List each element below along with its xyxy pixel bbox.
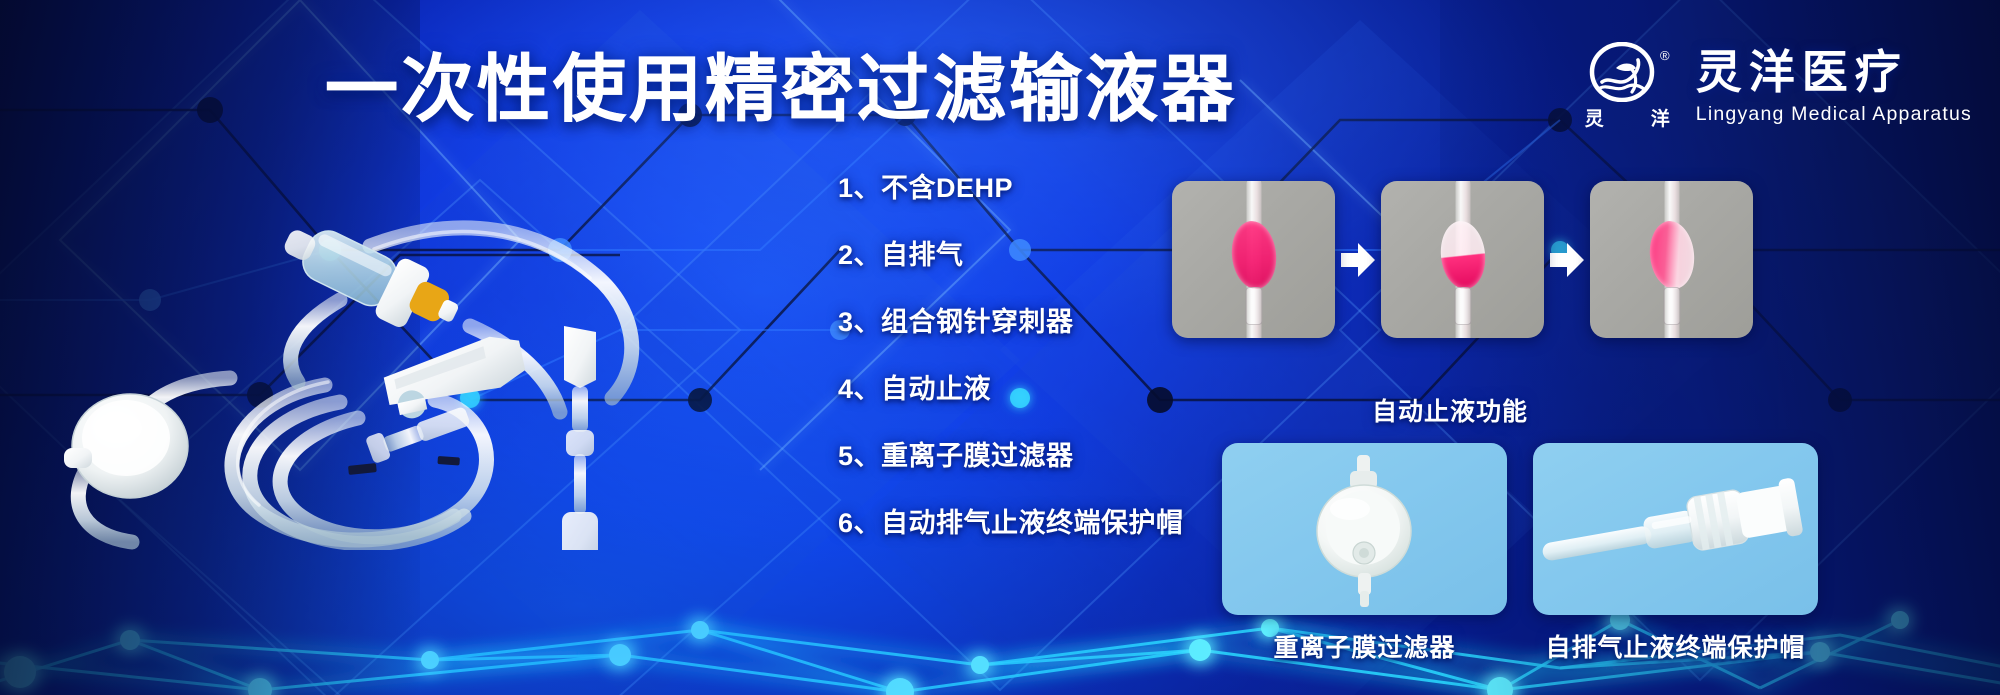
clamp-graphic bbox=[1663, 287, 1680, 325]
sequence-arrow-1 bbox=[1335, 242, 1381, 278]
panel-filter-image bbox=[1222, 443, 1507, 615]
right-arrow-icon bbox=[1550, 242, 1584, 278]
sequence-frame-2 bbox=[1381, 181, 1544, 338]
brand-name-block: 灵洋医疗 Lingyang Medical Apparatus bbox=[1696, 42, 1972, 127]
feature-list: 1、不含DEHP 2、自排气 3、组合钢针穿刺器 4、自动止液 5、重离子膜过滤… bbox=[838, 172, 1168, 539]
panel-cap-image bbox=[1533, 443, 1818, 615]
page-title: 一次性使用精密过滤输液器 bbox=[325, 44, 1237, 136]
hero-product-image bbox=[40, 150, 660, 550]
brand-name-en: Lingyang Medical Apparatus bbox=[1696, 101, 1972, 127]
feature-item-6: 6、自动排气止液终端保护帽 bbox=[838, 507, 1168, 539]
panel-caption-filter: 重离子膜过滤器 bbox=[1222, 628, 1507, 664]
brand-emblem: ® 灵 洋 bbox=[1582, 42, 1674, 131]
circular-wave-fish-emblem-icon: ® bbox=[1582, 42, 1674, 102]
brand-mark-left-char: 灵 bbox=[1585, 104, 1605, 131]
product-detail-panels bbox=[1222, 443, 1818, 615]
drip-chamber-graphic bbox=[1437, 219, 1488, 291]
right-arrow-icon bbox=[1341, 242, 1375, 278]
brand-emblem-chars: 灵 洋 bbox=[1582, 104, 1674, 131]
svg-text:®: ® bbox=[1660, 48, 1670, 63]
brand-name-cn: 灵洋医疗 bbox=[1696, 44, 1972, 100]
drip-chamber-graphic bbox=[1228, 219, 1279, 291]
sequence-frame-3 bbox=[1590, 181, 1753, 338]
sequence-frame-1 bbox=[1172, 181, 1335, 338]
clamp-graphic bbox=[1245, 287, 1262, 325]
feature-item-1: 1、不含DEHP bbox=[838, 172, 1168, 204]
clamp-graphic bbox=[1454, 287, 1471, 325]
auto-stop-sequence-caption: 自动止液功能 bbox=[1172, 392, 1728, 428]
product-banner: 一次性使用精密过滤输液器 ® 灵 洋 灵洋医疗 Lingyang Medical… bbox=[0, 0, 2000, 695]
brand-mark-right-char: 洋 bbox=[1651, 104, 1671, 131]
feature-item-4: 4、自动止液 bbox=[838, 373, 1168, 405]
feature-item-2: 2、自排气 bbox=[838, 239, 1168, 271]
panel-caption-cap: 自排气止液终端保护帽 bbox=[1533, 628, 1818, 664]
product-detail-captions: 重离子膜过滤器 自排气止液终端保护帽 bbox=[1222, 628, 1818, 664]
auto-stop-sequence bbox=[1172, 181, 1753, 338]
feature-item-3: 3、组合钢针穿刺器 bbox=[838, 306, 1168, 338]
feature-item-5: 5、重离子膜过滤器 bbox=[838, 440, 1168, 472]
brand-logo: ® 灵 洋 灵洋医疗 Lingyang Medical Apparatus bbox=[1582, 42, 1972, 131]
sequence-arrow-2 bbox=[1544, 242, 1590, 278]
drip-chamber-graphic bbox=[1646, 219, 1697, 291]
